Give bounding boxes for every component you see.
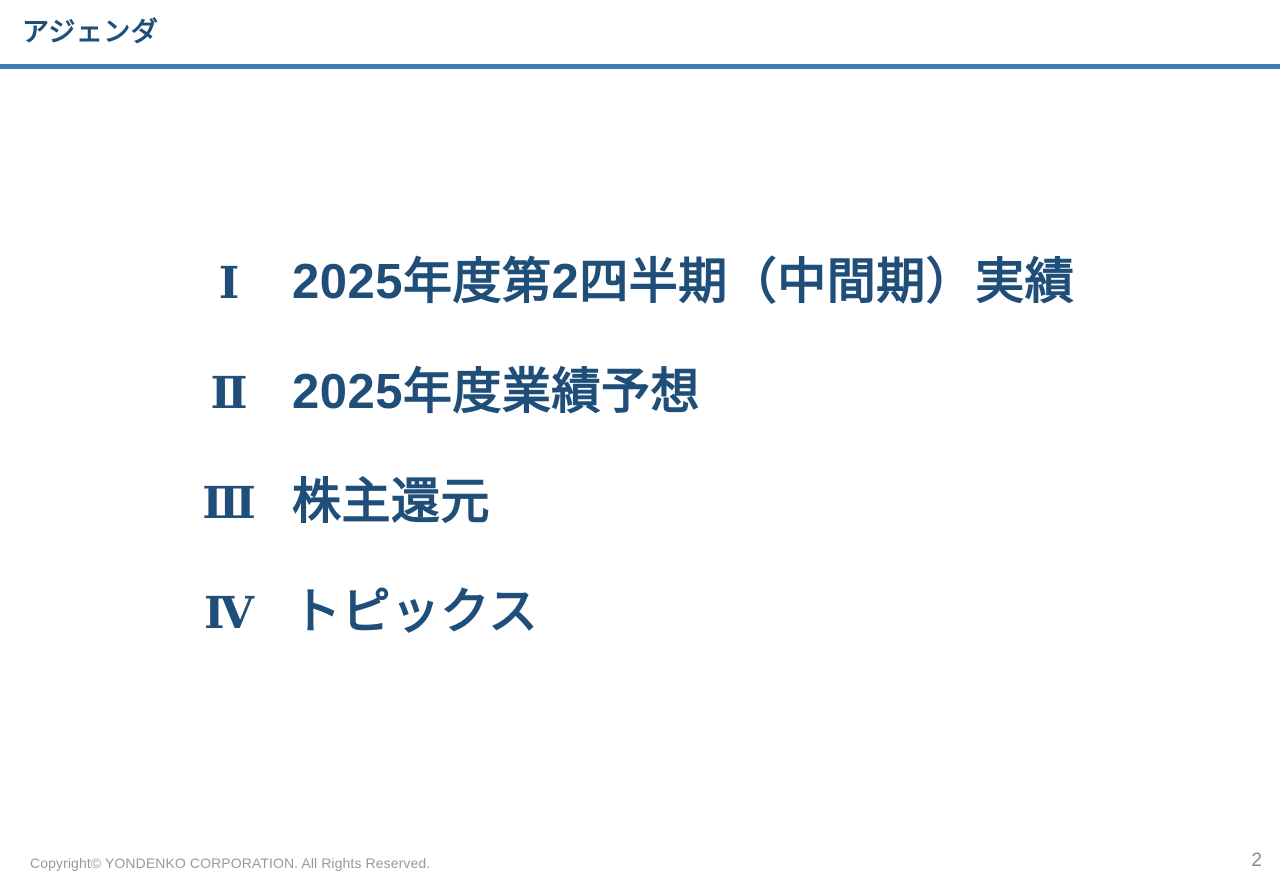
- agenda-numeral-3: Ⅲ: [196, 472, 262, 536]
- agenda-item-1[interactable]: Ⅰ 2025年度第2四半期（中間期）実績: [0, 250, 1280, 360]
- copyright-notice: Copyright© YONDENKO CORPORATION. All Rig…: [30, 855, 430, 871]
- page-title: アジェンダ: [22, 12, 158, 52]
- agenda-list: Ⅰ 2025年度第2四半期（中間期）実績 Ⅱ 2025年度業績予想 Ⅲ 株主還元…: [0, 250, 1280, 690]
- slide-header: アジェンダ: [0, 0, 1280, 69]
- agenda-numeral-2: Ⅱ: [196, 362, 262, 426]
- slide-footer: Copyright© YONDENKO CORPORATION. All Rig…: [0, 840, 1280, 886]
- agenda-label-3: 株主還元: [292, 470, 490, 534]
- agenda-item-4[interactable]: Ⅳ トピックス: [0, 580, 1280, 690]
- agenda-label-1: 2025年度第2四半期（中間期）実績: [292, 250, 1074, 314]
- page-number: 2: [1242, 850, 1262, 872]
- agenda-numeral-1: Ⅰ: [196, 252, 262, 316]
- agenda-label-4: トピックス: [292, 580, 538, 644]
- agenda-numeral-4: Ⅳ: [196, 582, 262, 646]
- agenda-item-2[interactable]: Ⅱ 2025年度業績予想: [0, 360, 1280, 470]
- agenda-label-2: 2025年度業績予想: [292, 360, 700, 424]
- title-divider: [0, 64, 1280, 69]
- agenda-item-3[interactable]: Ⅲ 株主還元: [0, 470, 1280, 580]
- slide: アジェンダ Ⅰ 2025年度第2四半期（中間期）実績 Ⅱ 2025年度業績予想 …: [0, 0, 1280, 886]
